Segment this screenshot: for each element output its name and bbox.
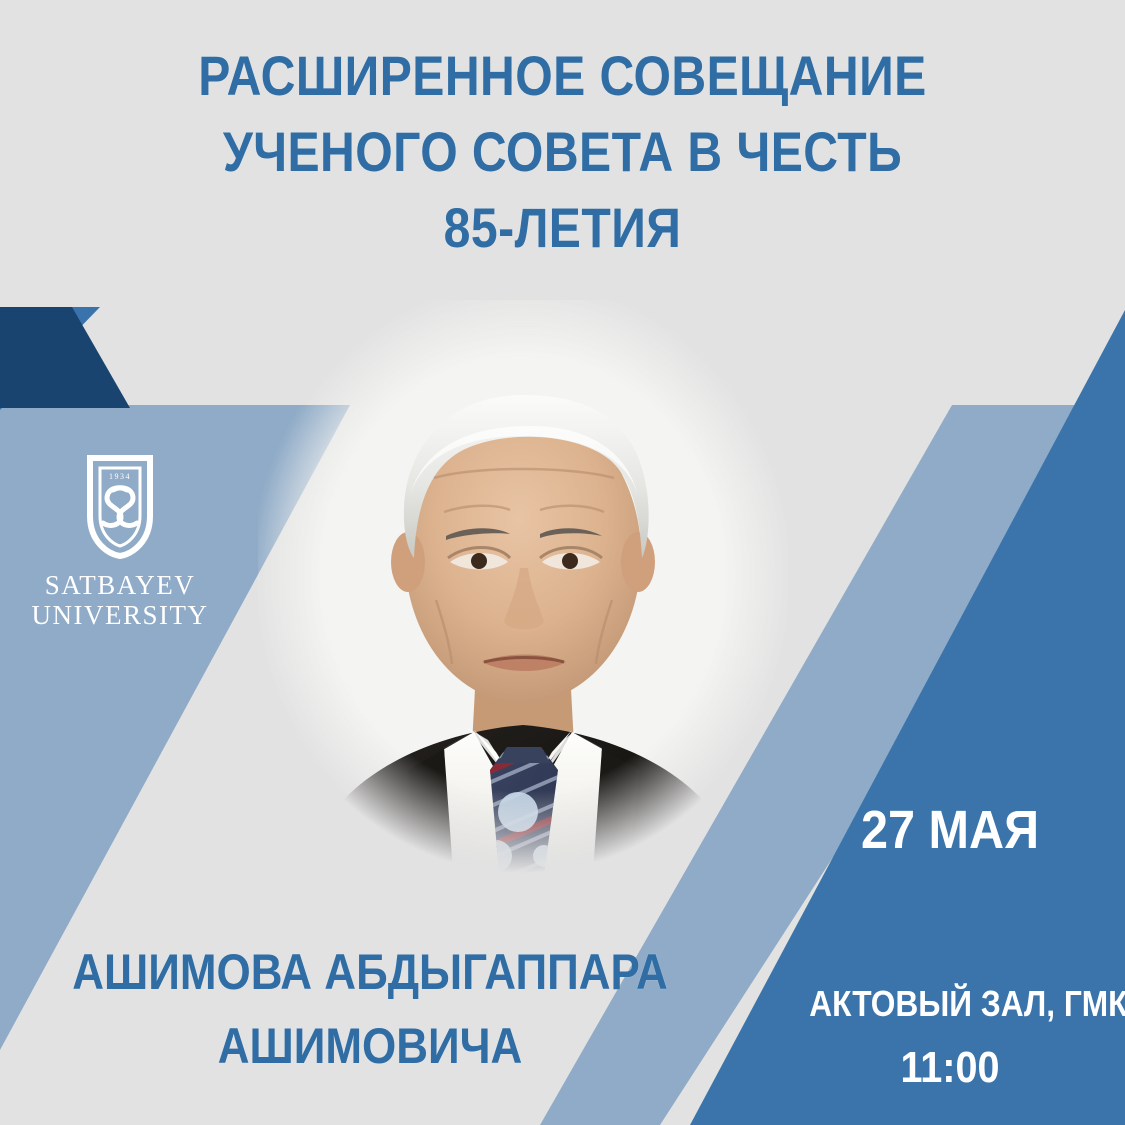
honoree-name-line-1: АШИМОВА АБДЫГАППАРА xyxy=(71,935,669,1009)
event-details: 27 МАЯ АКТОВЫЙ ЗАЛ, ГМК 11:00 xyxy=(790,800,1110,1096)
title-line-1: РАСШИРЕННОЕ СОВЕЩАНИЕ xyxy=(79,38,1047,114)
event-venue: АКТОВЫЙ ЗАЛ, ГМК xyxy=(809,982,1091,1026)
title-line-2: УЧЕНОГО СОВЕТА В ЧЕСТЬ xyxy=(79,114,1047,190)
logo-crest-year: 1934 xyxy=(109,472,131,481)
honoree-name-line-2: АШИМОВИЧА xyxy=(71,1009,669,1083)
title-line-3: 85-ЛЕТИЯ xyxy=(79,190,1047,266)
portrait-illustration xyxy=(258,300,788,940)
honoree-name: АШИМОВА АБДЫГАППАРА АШИМОВИЧА xyxy=(30,935,710,1083)
university-logo: 1934 SATBAYEV UNIVERSITY xyxy=(20,450,220,630)
portrait-photo xyxy=(258,300,788,940)
event-date: 27 МАЯ xyxy=(806,800,1094,860)
satbayev-shield-logo: 1934 xyxy=(80,450,160,562)
poster-canvas: РАСШИРЕННОЕ СОВЕЩАНИЕ УЧЕНОГО СОВЕТА В Ч… xyxy=(0,0,1125,1125)
logo-wordmark-line-1: SATBAYEV xyxy=(20,570,220,600)
event-time: 11:00 xyxy=(806,1040,1094,1096)
logo-wordmark-line-2: UNIVERSITY xyxy=(20,600,220,630)
poster-title: РАСШИРЕННОЕ СОВЕЩАНИЕ УЧЕНОГО СОВЕТА В Ч… xyxy=(0,38,1125,266)
